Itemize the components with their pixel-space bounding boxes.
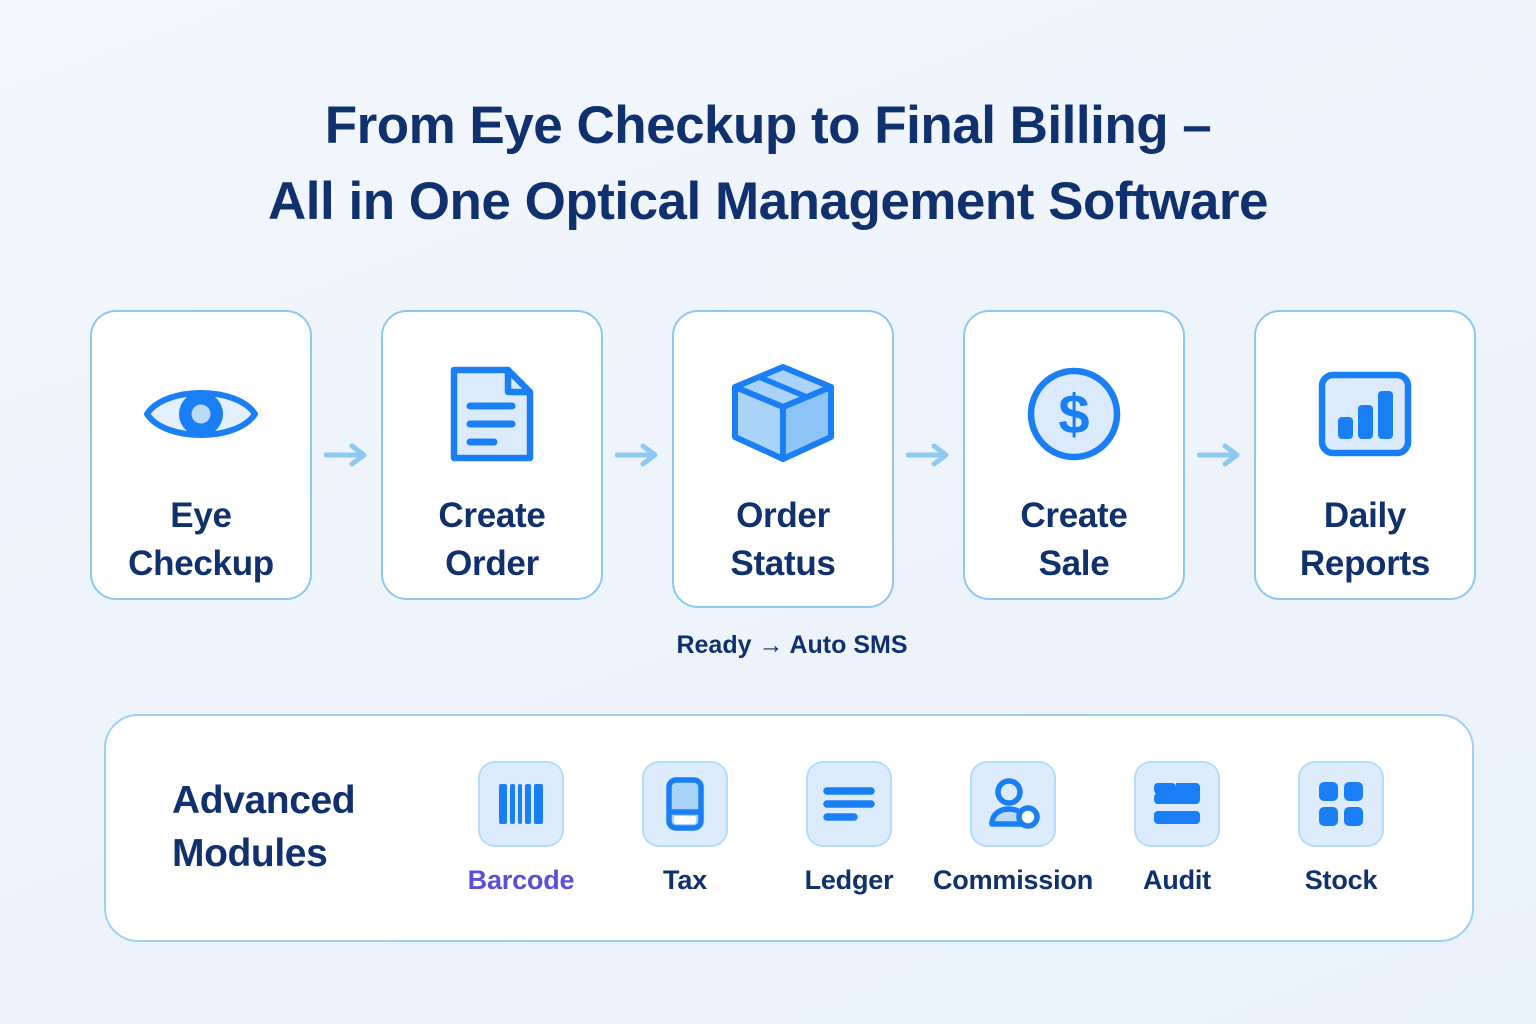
step-card-daily-reports[interactable]: Daily Reports: [1254, 310, 1476, 600]
arrow-right-icon-2: [607, 310, 669, 600]
module-label-commission: Commission: [933, 865, 1093, 896]
module-item-ledger[interactable]: Ledger: [774, 761, 924, 896]
receipt-icon: [642, 761, 728, 847]
step-card-order-status[interactable]: Order Status: [672, 310, 894, 608]
module-label-barcode: Barcode: [468, 865, 575, 896]
step-label-order-status: Order Status: [730, 492, 835, 587]
step-card-create-order[interactable]: Create Order: [381, 310, 603, 600]
arrow-right-icon-4: [1189, 310, 1251, 600]
module-label-tax: Tax: [663, 865, 707, 896]
step-label-daily-reports: Daily Reports: [1300, 492, 1430, 587]
svg-text:$: $: [1058, 383, 1089, 446]
title-line-1: From Eye Checkup to Final Billing –: [0, 88, 1536, 164]
box-icon: [727, 362, 839, 466]
title-line-2: All in One Optical Management Software: [0, 164, 1536, 240]
step-label-create-sale: Create Sale: [1020, 492, 1127, 587]
module-item-barcode[interactable]: Barcode: [446, 761, 596, 896]
dollar-coin-icon: $: [1024, 362, 1124, 466]
barcode-icon: [478, 761, 564, 847]
arrow-right-icon-1: [316, 310, 378, 600]
module-label-stock: Stock: [1305, 865, 1378, 896]
arrow-right-icon-3: [898, 310, 960, 600]
module-item-tax[interactable]: Tax: [610, 761, 760, 896]
eye-icon: [141, 362, 261, 466]
module-item-stock[interactable]: Stock: [1266, 761, 1416, 896]
document-icon: [446, 362, 538, 466]
blocks-icon: [1134, 761, 1220, 847]
page-title: From Eye Checkup to Final Billing – All …: [0, 88, 1536, 240]
auto-sms-note: Ready → Auto SMS: [674, 631, 910, 660]
module-label-audit: Audit: [1143, 865, 1211, 896]
step-card-eye-checkup[interactable]: Eye Checkup: [90, 310, 312, 600]
module-label-ledger: Ledger: [805, 865, 894, 896]
module-item-commission[interactable]: Commission: [938, 761, 1088, 896]
modules-list: Barcode Tax Ledger: [436, 761, 1472, 896]
advanced-modules-panel: Advanced Modules Barcode: [104, 714, 1474, 942]
workflow-steps: Eye Checkup Create Order: [90, 310, 1476, 610]
bar-chart-icon: [1316, 362, 1414, 466]
lines-icon: [806, 761, 892, 847]
step-label-create-order: Create Order: [438, 492, 545, 587]
step-label-eye-checkup: Eye Checkup: [128, 492, 274, 587]
step-card-create-sale[interactable]: $ Create Sale: [963, 310, 1185, 600]
grid-icon: [1298, 761, 1384, 847]
advanced-modules-heading: Advanced Modules: [106, 775, 436, 880]
person-badge-icon: [970, 761, 1056, 847]
module-item-audit[interactable]: Audit: [1102, 761, 1252, 896]
